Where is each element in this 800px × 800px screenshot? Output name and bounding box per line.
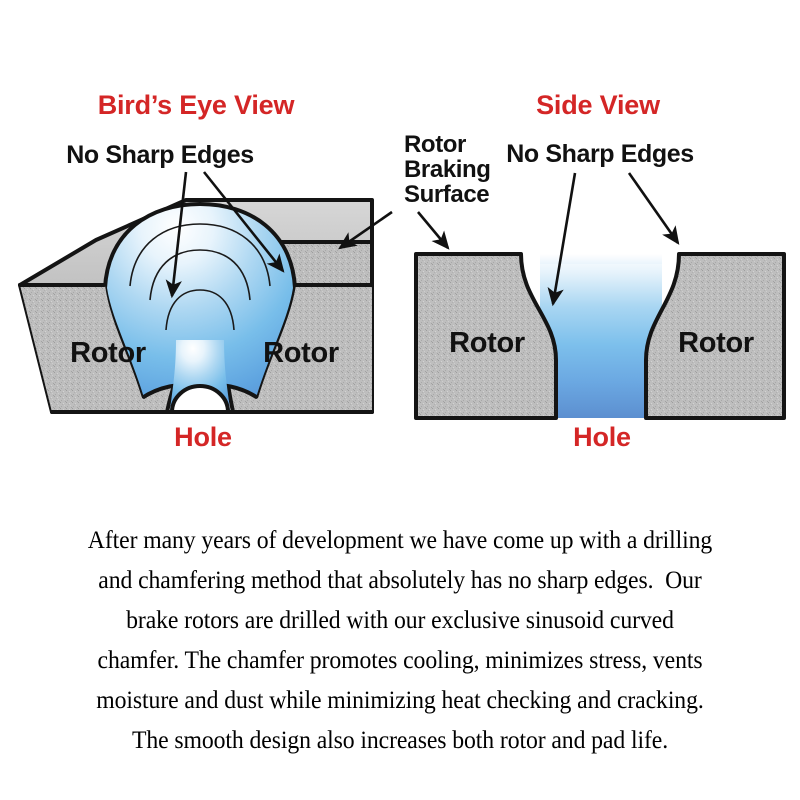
side-view-block: Rotor Rotor (416, 254, 784, 418)
caption-line-2: and chamfering method that absolutely ha… (28, 560, 772, 600)
rotor-braking-surface-line-1: Rotor (404, 131, 466, 158)
birds-eye-block: Rotor Rotor (20, 200, 372, 412)
caption-line-3: brake rotors are drilled with our exclus… (28, 600, 772, 640)
caption-line-6: The smooth design also increases both ro… (28, 720, 772, 760)
caption-line-4: chamfer. The chamfer promotes cooling, m… (28, 640, 772, 680)
diagram-area: Bird’s Eye View Side View No Sharp Edges… (0, 0, 800, 480)
side-view-no-sharp-edges-label: No Sharp Edges (506, 140, 694, 168)
birds-eye-rotor-left-label: Rotor (70, 337, 146, 369)
side-view-hole-label: Hole (573, 422, 631, 452)
rotor-braking-surface-line-3: Surface (404, 181, 489, 208)
side-view-rotor-right-label: Rotor (678, 327, 754, 359)
rotor-braking-surface-line-2: Braking (404, 156, 491, 183)
side-view-title: Side View (536, 90, 661, 120)
caption-paragraph: After many years of development we have … (0, 520, 800, 760)
arrow-rotor-braking-surface-side-view (418, 212, 448, 248)
birds-eye-hole-label: Hole (174, 422, 232, 452)
side-view-top-glow (540, 254, 662, 264)
caption-line-1: After many years of development we have … (28, 520, 772, 560)
caption-line-5: moisture and dust while minimizing heat … (28, 680, 772, 720)
rotor-braking-surface-label: Rotor Braking Surface (404, 131, 491, 208)
birds-eye-view-title: Bird’s Eye View (98, 90, 296, 120)
birds-eye-no-sharp-edges-label: No Sharp Edges (66, 141, 254, 169)
side-view-rotor-left-label: Rotor (449, 327, 525, 359)
poster-root: Bird’s Eye View Side View No Sharp Edges… (0, 0, 800, 800)
arrow-side-view-no-sharp-edges-right (629, 173, 678, 243)
birds-eye-rotor-right-label: Rotor (263, 337, 339, 369)
